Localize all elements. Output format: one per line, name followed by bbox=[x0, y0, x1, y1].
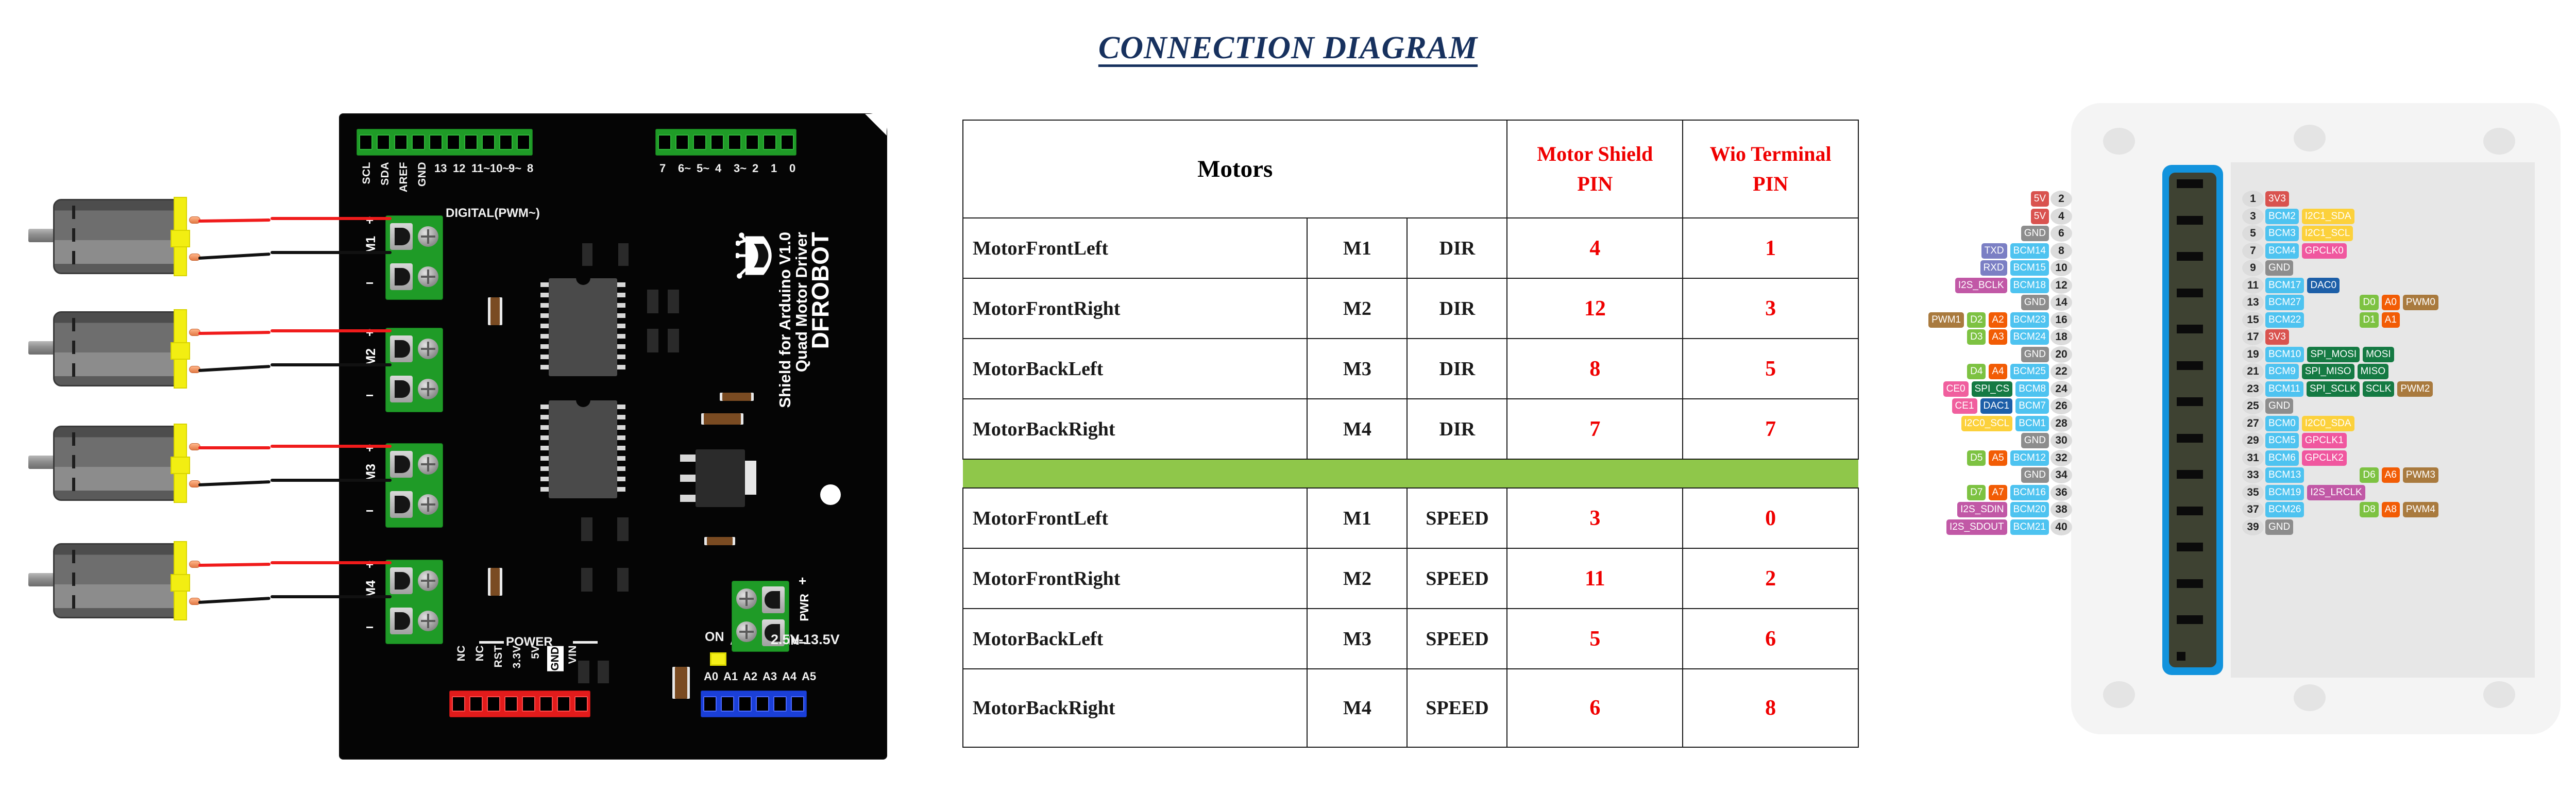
header-pin[interactable] bbox=[745, 134, 759, 150]
wio-pin-number: 14 bbox=[2050, 294, 2072, 311]
wio-pin-tag: BCM6 bbox=[2265, 450, 2299, 466]
cell-shield-pin: 4 bbox=[1507, 218, 1683, 278]
wio-pin-row: GND14 bbox=[2020, 294, 2072, 311]
motor-body bbox=[53, 199, 177, 274]
terminal-minus-label: − bbox=[366, 503, 374, 519]
wio-pin-row: 19BCM10SPI_MOSIMOSI bbox=[2242, 346, 2396, 363]
motor-end-cap bbox=[174, 197, 187, 276]
wio-pin-number: 11 bbox=[2242, 277, 2264, 294]
gpio-pin-hole[interactable] bbox=[2194, 507, 2203, 515]
gpio-pin-hole[interactable] bbox=[2194, 216, 2203, 225]
header-pin[interactable] bbox=[487, 696, 500, 712]
wio-pin-tag: GND bbox=[2265, 260, 2293, 276]
gpio-pin-hole[interactable] bbox=[2185, 470, 2194, 479]
brand-line2: Quad Motor Driver bbox=[792, 232, 811, 372]
digital-pin-label: 4 bbox=[715, 162, 721, 175]
wio-pin-row: I2S_SDINBCM2038 bbox=[1956, 501, 2072, 518]
digital-pin-label: 13 bbox=[434, 162, 447, 175]
wio-pin-row: 7BCM4GPCLK0 bbox=[2242, 243, 2348, 259]
header-pin[interactable] bbox=[429, 134, 443, 150]
cell-wio-pin: 0 bbox=[1683, 488, 1858, 548]
gpio-pin-hole[interactable] bbox=[2185, 615, 2194, 624]
gpio-pin-hole[interactable] bbox=[2185, 252, 2194, 261]
dc-motor bbox=[28, 308, 209, 390]
wio-pin-row: 23BCM11SPI_SCLKSCLKPWM2 bbox=[2242, 381, 2434, 397]
motor-end-cap bbox=[174, 541, 187, 620]
wio-pin-row: 39GND bbox=[2242, 519, 2295, 535]
header-pin[interactable] bbox=[557, 696, 570, 712]
cell-shield-pin: 7 bbox=[1507, 399, 1683, 459]
wio-pin-tag: GPCLK1 bbox=[2302, 433, 2347, 448]
digital-pin-label: 6~ bbox=[678, 162, 691, 175]
cell-function: DIR bbox=[1407, 339, 1507, 399]
wio-pin-row: 173V3 bbox=[2242, 329, 2291, 345]
wio-pin-tag: PWM2 bbox=[2397, 381, 2433, 397]
motor-wire-black bbox=[198, 253, 270, 260]
wio-pin-tag: PWM1 bbox=[1928, 312, 1964, 328]
wio-pin-number: 17 bbox=[2242, 329, 2264, 345]
wio-pin-number: 7 bbox=[2242, 243, 2264, 259]
wio-pin-number: 37 bbox=[2242, 501, 2264, 518]
wio-pin-row: GND30 bbox=[2020, 432, 2072, 449]
cell-motor-id: M1 bbox=[1307, 218, 1407, 278]
wio-pin-tag: GND bbox=[2021, 467, 2049, 483]
gpio-pin-hole[interactable] bbox=[2194, 252, 2203, 261]
header-pin[interactable] bbox=[469, 696, 483, 712]
wio-pin-tag: I2S_BCLK bbox=[1955, 278, 2007, 293]
smd-component-4 bbox=[617, 517, 629, 541]
wio-pin-row: 29BCM5GPCLK1 bbox=[2242, 432, 2348, 449]
header-pin[interactable] bbox=[447, 134, 460, 150]
terminal-plus-label: + bbox=[366, 440, 374, 456]
smd-component-7 bbox=[647, 290, 658, 313]
digital-pin-label: 8 bbox=[527, 162, 533, 175]
gpio-pin-hole[interactable] bbox=[2177, 216, 2185, 225]
wio-pin-tag: BCM22 bbox=[2265, 312, 2304, 328]
wio-pin-tag: A5 bbox=[1989, 450, 2007, 466]
wio-pin-tag: I2C0_SCL bbox=[1961, 416, 2013, 431]
wio-pin-tag: SPI_MOSI bbox=[2307, 347, 2360, 362]
pwr-plus-label: + bbox=[799, 573, 806, 589]
motor-terminal-m1[interactable] bbox=[385, 215, 443, 300]
wio-pin-tag: BCM21 bbox=[2010, 519, 2049, 535]
header-pin[interactable] bbox=[728, 134, 741, 150]
gpio-pin-hole[interactable] bbox=[2177, 543, 2185, 551]
cell-motor-id: M3 bbox=[1307, 339, 1407, 399]
wio-pin-tag: BCM1 bbox=[2015, 416, 2049, 431]
cell-motor-id: M2 bbox=[1307, 548, 1407, 609]
analog-pin-label: A1 bbox=[723, 670, 738, 683]
wio-pin-tag: SPI_SCLK bbox=[2307, 381, 2360, 397]
header-pin[interactable] bbox=[658, 134, 671, 150]
wio-pin-row: I2S_BCLKBCM1812 bbox=[1954, 277, 2072, 294]
header-pin[interactable] bbox=[675, 134, 689, 150]
wio-pin-number: 28 bbox=[2050, 415, 2072, 432]
analog-pin-label: A3 bbox=[762, 670, 777, 683]
cell-function: DIR bbox=[1407, 399, 1507, 459]
gpio-pin-hole[interactable] bbox=[2177, 361, 2185, 370]
terminal-plus-label: + bbox=[366, 212, 374, 228]
header-pin[interactable] bbox=[464, 134, 478, 150]
header-pin[interactable] bbox=[359, 134, 372, 150]
header-pin[interactable] bbox=[703, 696, 717, 712]
wio-pin-row: CE1DAC1BCM726 bbox=[1951, 398, 2072, 414]
digital-pin-label: SDA bbox=[379, 162, 392, 186]
wio-pin-tag: GND bbox=[2021, 347, 2049, 362]
digital-pin-label: 11~ bbox=[471, 162, 490, 175]
wio-pin-tag: BCM4 bbox=[2265, 243, 2299, 259]
motor-wire-red bbox=[198, 218, 270, 223]
header-pin[interactable] bbox=[791, 696, 804, 712]
smd-component-10 bbox=[668, 329, 679, 352]
digital-pin-label: 1 bbox=[771, 162, 777, 175]
digital-pin-label: SCL bbox=[361, 162, 373, 184]
wio-pin-number: 31 bbox=[2242, 450, 2264, 466]
wio-pin-number: 39 bbox=[2242, 519, 2264, 535]
header-pin[interactable] bbox=[499, 134, 513, 150]
wio-pin-number: 4 bbox=[2050, 208, 2072, 225]
wio-pin-tag: BCM20 bbox=[2010, 502, 2049, 517]
digital-pin-label: GND bbox=[416, 162, 429, 187]
gpio-pin-hole[interactable] bbox=[2177, 289, 2185, 297]
cell-motor-name: MotorBackRight bbox=[963, 669, 1307, 747]
resistor-4 bbox=[490, 297, 500, 325]
wio-pin-number: 2 bbox=[2050, 191, 2072, 207]
header-wio-terminal-pin: Wio Terminal PIN bbox=[1683, 120, 1858, 218]
digital-pin-label: 9~ bbox=[509, 162, 521, 175]
gpio-pin-hole[interactable] bbox=[2194, 434, 2203, 443]
cell-shield-pin: 3 bbox=[1507, 488, 1683, 548]
header-pin[interactable] bbox=[522, 696, 535, 712]
gpio-pin-hole[interactable] bbox=[2194, 543, 2203, 551]
gpio-pin-hole[interactable] bbox=[2177, 252, 2185, 261]
gpio-pin-hole[interactable] bbox=[2185, 397, 2194, 406]
wio-pin-tag: GND bbox=[2021, 433, 2049, 448]
wio-pin-row: 21BCM9SPI_MISOMISO bbox=[2242, 363, 2390, 380]
gpio-pin-hole[interactable] bbox=[2194, 361, 2203, 370]
motor-wire-red-segment bbox=[270, 561, 392, 564]
table-separator-row bbox=[963, 459, 1858, 488]
wio-pin-tag: A3 bbox=[1989, 329, 2007, 345]
gpio-pin-hole[interactable] bbox=[2194, 615, 2203, 624]
wio-pin-row: TXDBCM148 bbox=[1980, 243, 2072, 259]
wio-pin-tag: GPCLK2 bbox=[2302, 450, 2347, 466]
wio-pin-tag: D5 bbox=[1967, 450, 1986, 466]
table-row: MotorBackRightM4DIR77 bbox=[963, 399, 1858, 459]
wio-pin-tag: D8 bbox=[2360, 502, 2378, 517]
digital-pin-label: 10~ bbox=[490, 162, 509, 175]
wio-mount-hole-bl bbox=[2103, 681, 2135, 708]
wio-pin-number: 15 bbox=[2242, 312, 2264, 328]
gpio-pin-hole[interactable] bbox=[2185, 289, 2194, 297]
header-shield-line1: Motor Shield bbox=[1537, 142, 1653, 165]
smd-component-11 bbox=[578, 661, 589, 683]
wio-pin-row: 13V3 bbox=[2242, 191, 2291, 207]
gpio-pin-hole[interactable] bbox=[2177, 397, 2185, 406]
wio-pin-tag: A6 bbox=[2382, 467, 2400, 483]
cell-wio-pin: 8 bbox=[1683, 669, 1858, 747]
gpio-pin-hole[interactable] bbox=[2194, 397, 2203, 406]
cell-motor-id: M1 bbox=[1307, 488, 1407, 548]
wio-mount-hole-bc bbox=[2294, 684, 2326, 711]
wio-pin-tag: DAC0 bbox=[2307, 278, 2340, 293]
header-pin[interactable] bbox=[781, 134, 794, 150]
cell-shield-pin: 8 bbox=[1507, 339, 1683, 399]
wio-pin-tag: GPCLK0 bbox=[2302, 243, 2347, 259]
wio-pin-row: GND6 bbox=[2020, 225, 2072, 242]
header-pin[interactable] bbox=[504, 696, 518, 712]
motor-body bbox=[53, 543, 177, 618]
gpio-pin-hole[interactable] bbox=[2185, 579, 2194, 588]
table-row: MotorBackRightM4SPEED68 bbox=[963, 669, 1858, 747]
table-row: MotorFrontLeftM1SPEED30 bbox=[963, 488, 1858, 548]
cell-function: DIR bbox=[1407, 218, 1507, 278]
wio-pin-row: 9GND bbox=[2242, 260, 2295, 276]
wio-pin-tag: D7 bbox=[1967, 485, 1986, 500]
motor-wire-black bbox=[198, 365, 270, 372]
power-rule-right bbox=[573, 641, 598, 644]
gpio-pin-hole[interactable] bbox=[2194, 579, 2203, 588]
power-led bbox=[710, 652, 726, 666]
wio-pin-tag: PWM4 bbox=[2403, 502, 2438, 517]
wio-pin-tag: 5V bbox=[2031, 191, 2049, 207]
resistor-3 bbox=[707, 537, 733, 545]
header-wio-line1: Wio Terminal bbox=[1710, 142, 1832, 165]
motor-terminal-m4[interactable] bbox=[385, 560, 443, 644]
motor-driver-ic-2 bbox=[549, 400, 617, 498]
wio-pin-tag: BCM18 bbox=[2010, 278, 2049, 293]
wio-pin-row: 5V4 bbox=[2029, 208, 2072, 225]
diagram-canvas: CONNECTION DIAGRAM SCLSDAAREFGND131211~1… bbox=[0, 0, 2576, 791]
table-row: MotorBackLeftM3SPEED56 bbox=[963, 609, 1858, 669]
gpio-pin-hole[interactable] bbox=[2177, 434, 2185, 443]
cell-motor-name: MotorBackLeft bbox=[963, 609, 1307, 669]
wio-pin-tag: CE1 bbox=[1952, 398, 1977, 414]
pwr-label: PWR bbox=[798, 594, 811, 621]
gpio-pin-hole[interactable] bbox=[2194, 289, 2203, 297]
wio-pin-tag: A8 bbox=[2382, 502, 2400, 517]
gpio-pin-hole[interactable] bbox=[2194, 179, 2203, 188]
cell-function: SPEED bbox=[1407, 488, 1507, 548]
table-row: MotorBackLeftM3DIR85 bbox=[963, 339, 1858, 399]
wio-mount-hole-tl bbox=[2103, 128, 2135, 155]
header-pin[interactable] bbox=[394, 134, 408, 150]
wio-pin-tag: A4 bbox=[1989, 364, 2007, 379]
gpio-pin-hole[interactable] bbox=[2185, 543, 2194, 551]
gpio-pin-hole[interactable] bbox=[2194, 325, 2203, 333]
digital-pin-label: 5~ bbox=[697, 162, 709, 175]
wio-pin-row: D4A4BCM2522 bbox=[1965, 363, 2072, 380]
motor-shaft bbox=[28, 341, 55, 355]
wio-pin-tag: BCM7 bbox=[2015, 398, 2049, 414]
terminal-minus-label: − bbox=[366, 388, 374, 403]
header-pin[interactable] bbox=[773, 696, 787, 712]
gpio-pin-hole[interactable] bbox=[2185, 507, 2194, 515]
wio-pin-tag: BCM16 bbox=[2010, 485, 2049, 500]
wio-pin-tag: BCM11 bbox=[2265, 381, 2303, 397]
wio-pin-number: 25 bbox=[2242, 398, 2264, 414]
power-rule-left bbox=[479, 641, 504, 644]
table-row: MotorFrontLeftM1DIR41 bbox=[963, 218, 1858, 278]
wio-pin-number: 35 bbox=[2242, 484, 2264, 501]
motor-wire-red-segment bbox=[270, 217, 392, 220]
gpio-pin-hole[interactable] bbox=[2185, 361, 2194, 370]
gpio-connector[interactable] bbox=[2162, 165, 2223, 675]
terminal-plus-label: + bbox=[366, 557, 374, 573]
motor-wire-red-segment bbox=[270, 329, 392, 332]
wio-pin-row: I2C0_SCLBCM128 bbox=[1960, 415, 2072, 432]
wio-pin-row: GND20 bbox=[2020, 346, 2072, 363]
analog-header[interactable] bbox=[701, 691, 807, 717]
motor-end-cap bbox=[174, 309, 187, 389]
motor-wire-black-segment bbox=[270, 251, 392, 254]
header-pin[interactable] bbox=[693, 134, 706, 150]
wio-pin-number: 5 bbox=[2242, 225, 2264, 242]
motor-body bbox=[53, 426, 177, 501]
motor-wire-red bbox=[198, 331, 270, 335]
wio-pin-number: 13 bbox=[2242, 294, 2264, 311]
wio-pin-number: 12 bbox=[2050, 277, 2072, 294]
digital-header-left[interactable] bbox=[357, 129, 533, 156]
table-row: MotorFrontRightM2DIR123 bbox=[963, 278, 1858, 339]
power-pin-label: NC bbox=[455, 645, 468, 661]
wio-pin-number: 30 bbox=[2050, 432, 2072, 449]
gpio-pin-hole[interactable] bbox=[2185, 325, 2194, 333]
wio-pin-tag: BCM27 bbox=[2265, 295, 2304, 310]
wio-pin-row: 25GND bbox=[2242, 398, 2295, 414]
wio-pin-tag: BCM15 bbox=[2010, 260, 2049, 276]
gpio-pin-hole[interactable] bbox=[2185, 216, 2194, 225]
wio-pin-tag: BCM0 bbox=[2265, 416, 2299, 431]
digital-pin-label: 2 bbox=[752, 162, 758, 175]
wio-pin-number: 1 bbox=[2242, 191, 2264, 207]
wio-pin-tag: A0 bbox=[2382, 295, 2400, 310]
digital-header-right[interactable] bbox=[655, 129, 796, 156]
motor-wire-red-segment bbox=[270, 445, 392, 448]
wio-pin-tag: BCM10 bbox=[2265, 347, 2304, 362]
gpio-pin-hole[interactable] bbox=[2194, 470, 2203, 479]
motor-wire-red bbox=[198, 563, 270, 567]
cell-shield-pin: 12 bbox=[1507, 278, 1683, 339]
wio-pin-tag: BCM17 bbox=[2265, 278, 2304, 293]
motor-wire-black bbox=[198, 480, 270, 486]
wio-pin-tag: BCM9 bbox=[2265, 364, 2299, 379]
wio-pin-number: 40 bbox=[2050, 519, 2072, 535]
header-pin[interactable] bbox=[574, 696, 588, 712]
wio-pin-row: PWM1D2A2BCM2316 bbox=[1927, 312, 2072, 328]
wio-pin-tag: 3V3 bbox=[2265, 329, 2289, 345]
motor-wire-black-segment bbox=[270, 595, 392, 598]
wio-pin-tag: GND bbox=[2265, 398, 2293, 414]
on-label: ON bbox=[705, 630, 724, 645]
gpio-pin-hole[interactable] bbox=[2177, 325, 2185, 333]
digital-pin-label: 3~ bbox=[734, 162, 747, 175]
motor-wire-black-segment bbox=[270, 479, 392, 482]
header-pin[interactable] bbox=[539, 696, 553, 712]
analog-pin-label: A4 bbox=[782, 670, 796, 683]
terminal-minus-label: − bbox=[366, 619, 374, 635]
power-pin-label: NC bbox=[474, 645, 486, 661]
wio-pin-tag: GND bbox=[2021, 295, 2049, 310]
header-pin[interactable] bbox=[763, 134, 776, 150]
wio-pin-number: 10 bbox=[2050, 260, 2072, 276]
gpio-pin-hole[interactable] bbox=[2177, 579, 2185, 588]
motor-terminal-m3[interactable] bbox=[385, 443, 443, 528]
wio-pin-number: 29 bbox=[2242, 432, 2264, 449]
wio-pin-row: 5V2 bbox=[2029, 191, 2072, 207]
gpio-pin-hole[interactable] bbox=[2177, 507, 2185, 515]
gpio-pin-hole[interactable] bbox=[2185, 179, 2194, 188]
table-row: MotorFrontRightM2SPEED112 bbox=[963, 548, 1858, 609]
wio-pin-tag: GND bbox=[2021, 226, 2049, 241]
header-pin[interactable] bbox=[482, 134, 495, 150]
wio-mount-hole-tc bbox=[2294, 125, 2326, 152]
voltage-range-label: 2.5V-13.5V bbox=[771, 632, 840, 648]
cell-motor-id: M4 bbox=[1307, 669, 1407, 747]
cell-motor-name: MotorBackLeft bbox=[963, 339, 1307, 399]
wio-pin-row: 27BCM0I2C0_SDA bbox=[2242, 415, 2356, 432]
motor-driver-ic-1 bbox=[549, 278, 617, 376]
wio-pin-tag: GND bbox=[2265, 519, 2293, 535]
header-pin[interactable] bbox=[517, 134, 530, 150]
wio-pin-number: 16 bbox=[2050, 312, 2072, 328]
wio-pin-number: 20 bbox=[2050, 346, 2072, 363]
wio-pin-tag: BCM25 bbox=[2010, 364, 2049, 379]
header-pin[interactable] bbox=[452, 696, 465, 712]
header-pin[interactable] bbox=[710, 134, 724, 150]
wio-pin-tag: MOSI bbox=[2363, 347, 2394, 362]
gpio-pin-hole[interactable] bbox=[2177, 470, 2185, 479]
motor-wire-black bbox=[198, 597, 270, 604]
header-pin[interactable] bbox=[377, 134, 390, 150]
digital-pin-label: 7 bbox=[659, 162, 666, 175]
wio-pin-number: 21 bbox=[2242, 363, 2264, 380]
header-motor-shield-pin: Motor Shield PIN bbox=[1507, 120, 1683, 218]
header-pin[interactable] bbox=[412, 134, 425, 150]
wio-pin-tag: A7 bbox=[1989, 485, 2007, 500]
motor-shaft bbox=[28, 456, 55, 469]
header-pin[interactable] bbox=[756, 696, 769, 712]
wio-pin-row: D5A5BCM1232 bbox=[1965, 450, 2072, 466]
gpio-pin-hole[interactable] bbox=[2185, 434, 2194, 443]
wio-pin-tag: I2C0_SDA bbox=[2302, 416, 2354, 431]
wio-pin-row: D3A3BCM2418 bbox=[1965, 329, 2072, 345]
header-pin[interactable] bbox=[721, 696, 734, 712]
wio-pin-number: 19 bbox=[2242, 346, 2264, 363]
dc-motor bbox=[28, 196, 209, 277]
gpio-pin-hole[interactable] bbox=[2177, 179, 2185, 188]
wio-pin-number: 9 bbox=[2242, 260, 2264, 276]
wio-pin-row: 35BCM19I2S_LRCLK bbox=[2242, 484, 2367, 501]
wio-pin-tag: RXD bbox=[1980, 260, 2007, 276]
wio-pin-tag: BCM19 bbox=[2265, 485, 2304, 500]
wio-pin-tag: BCM23 bbox=[2010, 312, 2049, 328]
mounting-hole bbox=[820, 484, 841, 505]
header-pin[interactable] bbox=[738, 696, 752, 712]
motor-wire-red bbox=[198, 446, 270, 449]
wio-pin-number: 36 bbox=[2050, 484, 2072, 501]
wio-pin-number: 33 bbox=[2242, 467, 2264, 483]
wio-pin-tag: D3 bbox=[1967, 329, 1986, 345]
gpio-pin-hole[interactable] bbox=[2177, 615, 2185, 624]
power-header[interactable] bbox=[449, 691, 590, 717]
gpio-pin-hole[interactable] bbox=[2177, 652, 2185, 661]
wio-pin-row: 37BCM26.D8A8PWM4 bbox=[2242, 501, 2440, 518]
wio-pin-tag: I2C1_SCL bbox=[2302, 226, 2353, 241]
cell-function: SPEED bbox=[1407, 609, 1507, 669]
dc-motor bbox=[28, 423, 209, 504]
motor-terminal-m2[interactable] bbox=[385, 328, 443, 412]
